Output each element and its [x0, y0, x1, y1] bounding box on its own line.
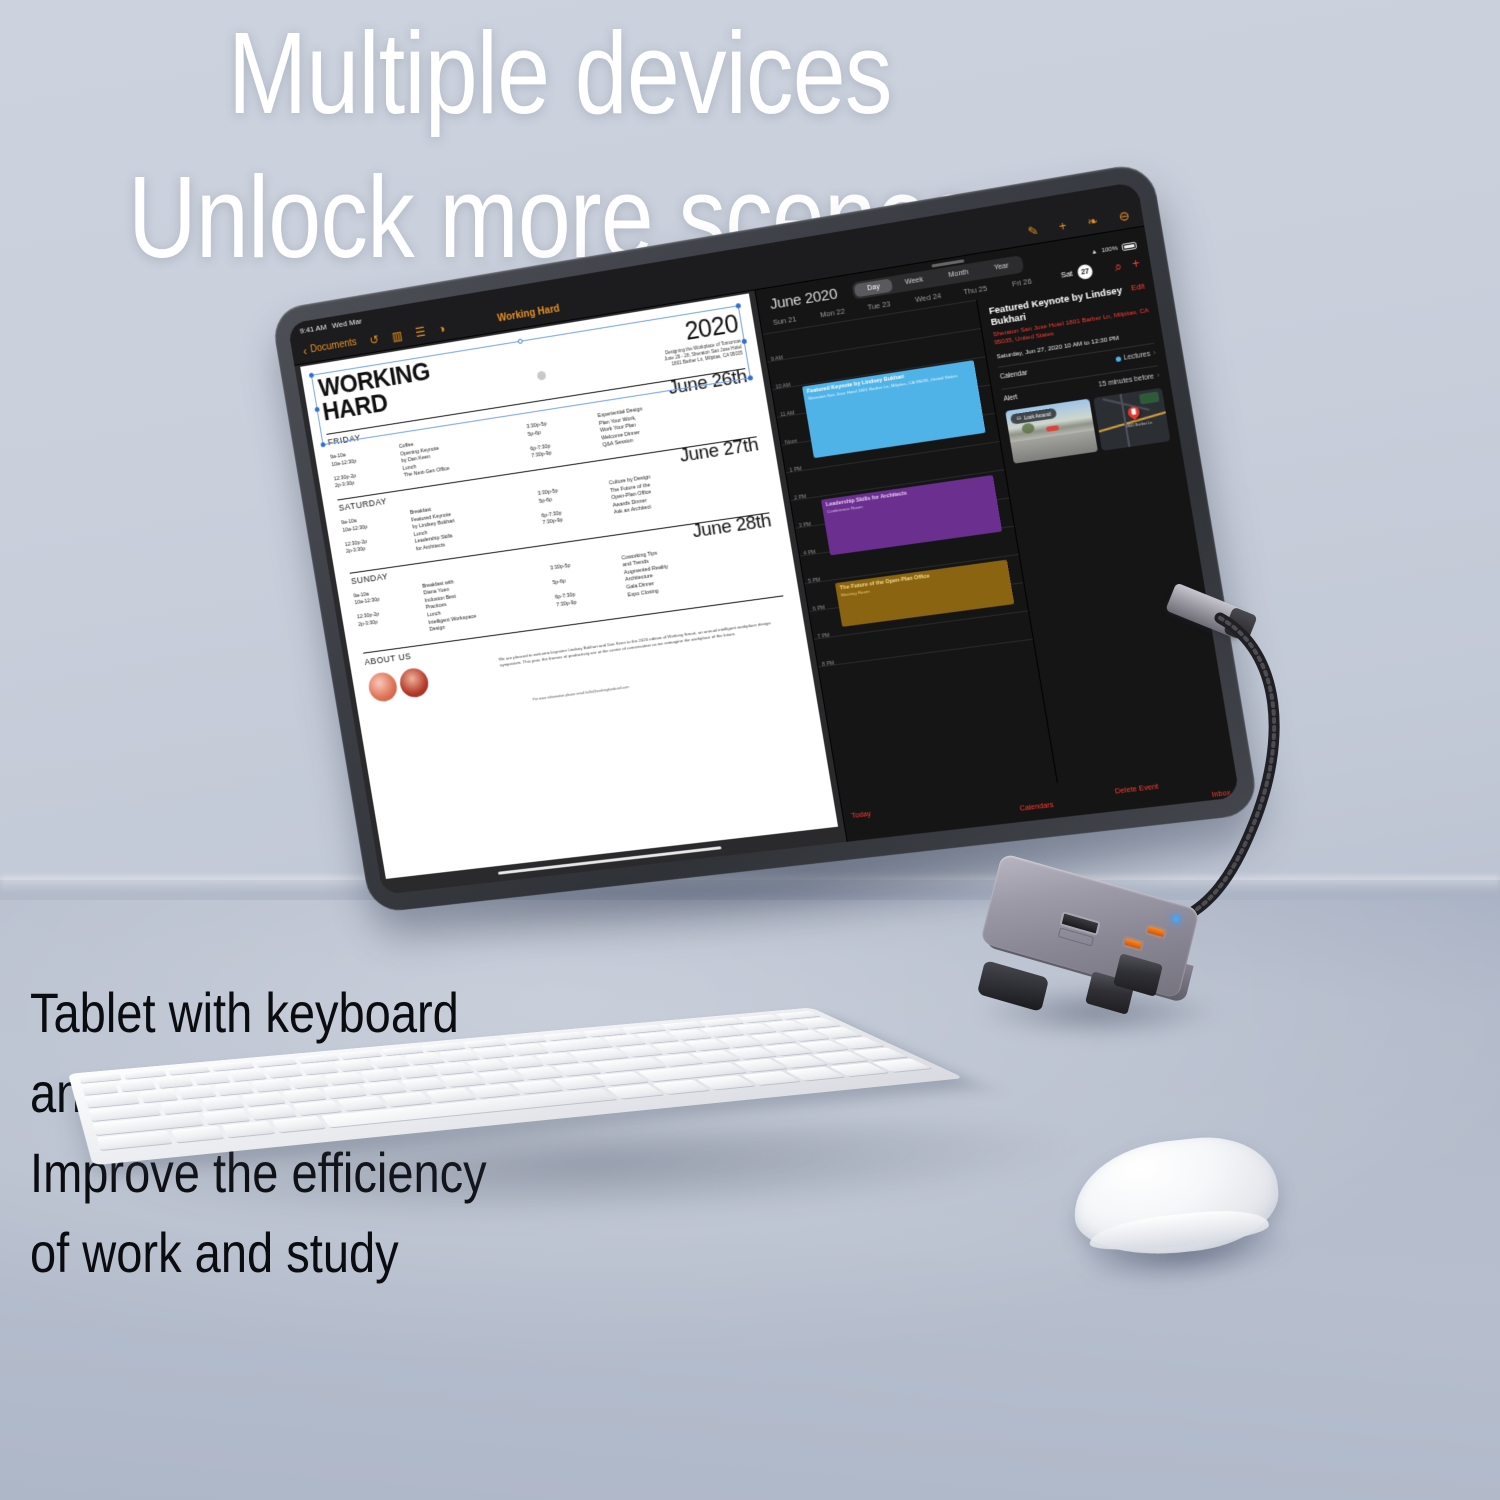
alert-row-value: 15 minutes before: [1098, 373, 1155, 389]
saturday-times-right: 3:30p-5p 5p-6p 6p-7:30p 7:30p-9p: [537, 481, 612, 535]
power-led-icon: [1173, 916, 1179, 922]
hour-label: 2 PM: [794, 494, 807, 502]
hour-label: 11 AM: [780, 410, 795, 418]
street-road: [1011, 430, 1098, 463]
document-page[interactable]: WORKING HARD 2020 Designing the Workplac…: [300, 293, 838, 879]
sunday-times-left: 9a-10a 10a-12:30p 12:30p-2p 2p-3:30p: [353, 584, 427, 644]
day-wed-24[interactable]: Wed 24: [914, 287, 962, 303]
battery-icon: [1121, 242, 1137, 252]
calendar-row-label: Calendar: [999, 370, 1028, 381]
shapes-icon[interactable]: ❧: [1086, 214, 1099, 228]
media-icon[interactable]: ▥: [391, 329, 403, 342]
sunday-times-right: 3:30p-5p 5p-6p 6p-7:30p 7:30p-9p: [550, 556, 626, 617]
status-indicators: ▲ 100%: [1091, 242, 1138, 257]
chevron-right-icon: ›: [1153, 350, 1157, 358]
battery-percent: 100%: [1101, 245, 1118, 254]
hour-label: 1 PM: [789, 466, 802, 474]
day-fri-26[interactable]: Fri 26: [1011, 271, 1059, 288]
list-icon[interactable]: ☰: [414, 325, 426, 338]
day-thu-25[interactable]: Thu 25: [963, 279, 1011, 296]
look-around-preview[interactable]: ▭ Look Around: [1006, 399, 1099, 464]
plus-icon[interactable]: +: [1058, 219, 1067, 232]
status-time: 9:41 AM: [299, 322, 327, 335]
avatar-group: [367, 666, 431, 702]
day-mon-22[interactable]: Mon 22: [819, 303, 866, 319]
undo-icon[interactable]: ↺: [369, 333, 380, 346]
alert-row-label: Alert: [1003, 394, 1018, 403]
avatar: [367, 671, 399, 703]
street-tree: [1021, 422, 1035, 434]
tablet-screen[interactable]: 9:41 AM Wed Mar ‹ Documents ↺ ▥ ☰ ◑ Work…: [287, 181, 1239, 894]
document-title: Working Hard: [497, 304, 561, 325]
day-sat-label: Sat: [1060, 268, 1073, 279]
documents-label: Documents: [310, 337, 358, 355]
add-event-icon[interactable]: +: [1131, 257, 1140, 270]
avatar: [398, 666, 430, 698]
headline-line-1: Multiple devices: [228, 6, 892, 140]
back-chevron-icon: ‹: [302, 345, 308, 357]
today-button[interactable]: Today: [851, 809, 872, 820]
delete-event-button[interactable]: Delete Event: [1114, 781, 1159, 795]
calendars-button[interactable]: Calendars: [1019, 800, 1054, 813]
hour-label: 7 PM: [817, 633, 830, 641]
status-date: Wed Mar: [331, 316, 362, 330]
saturday-times-left: 9a-10a 10a-12:30p 12:30p-2p 2p-3:30p: [341, 511, 413, 564]
hour-label: 10 AM: [775, 382, 791, 390]
calendar-color-dot-icon: [1115, 356, 1121, 362]
hour-label: 9 AM: [771, 355, 784, 363]
tools-icon[interactable]: ◑: [437, 322, 446, 335]
wireless-mouse[interactable]: [1068, 1129, 1297, 1296]
map-park: [1139, 391, 1160, 404]
wireless-keyboard[interactable]: [85, 921, 1094, 1236]
documents-button[interactable]: ‹ Documents: [302, 337, 357, 357]
search-icon[interactable]: ⌕: [1114, 260, 1123, 273]
hour-label: 6 PM: [812, 605, 825, 613]
street-car: [1046, 425, 1059, 432]
wifi-icon: ▲: [1091, 248, 1098, 255]
hour-label: 3 PM: [799, 522, 812, 530]
look-around-label: Look Around: [1024, 411, 1052, 420]
pen-icon[interactable]: ✎: [1027, 224, 1039, 238]
subheadline-line-4: of work and study: [30, 1222, 399, 1284]
day-tue-23[interactable]: Tue 23: [867, 295, 914, 311]
friday-times-left: 9a-10a 10a-12:30p 12:30p-2p 2p-3:30p: [330, 445, 401, 491]
map-preview[interactable]: 1801 Barber Ln: [1093, 388, 1170, 451]
hour-label: 8 PM: [822, 660, 835, 668]
hour-label: 4 PM: [803, 549, 816, 557]
look-around-badge[interactable]: ▭ Look Around: [1010, 408, 1056, 425]
map-road-vertical: [1118, 388, 1132, 450]
binoculars-icon: ▭: [1016, 415, 1021, 422]
selected-day-number: 27: [1077, 264, 1094, 281]
day-sun-21[interactable]: Sun 21: [772, 310, 819, 326]
hour-label: Noon: [785, 438, 798, 446]
friday-times-right: 3:30p-5p 5p-6p 6p-7:30p 7:30p-9p: [526, 414, 599, 461]
calendar-row-value: Lectures: [1123, 351, 1151, 362]
chevron-right-icon: ›: [1157, 372, 1161, 380]
hour-label: 5 PM: [808, 577, 821, 585]
product-scene: Multiple devices Unlock more scenes Tabl…: [0, 0, 1500, 1500]
pages-app-pane[interactable]: WORKING HARD 2020 Designing the Workplac…: [294, 290, 846, 894]
more-icon[interactable]: ⊖: [1118, 209, 1131, 223]
